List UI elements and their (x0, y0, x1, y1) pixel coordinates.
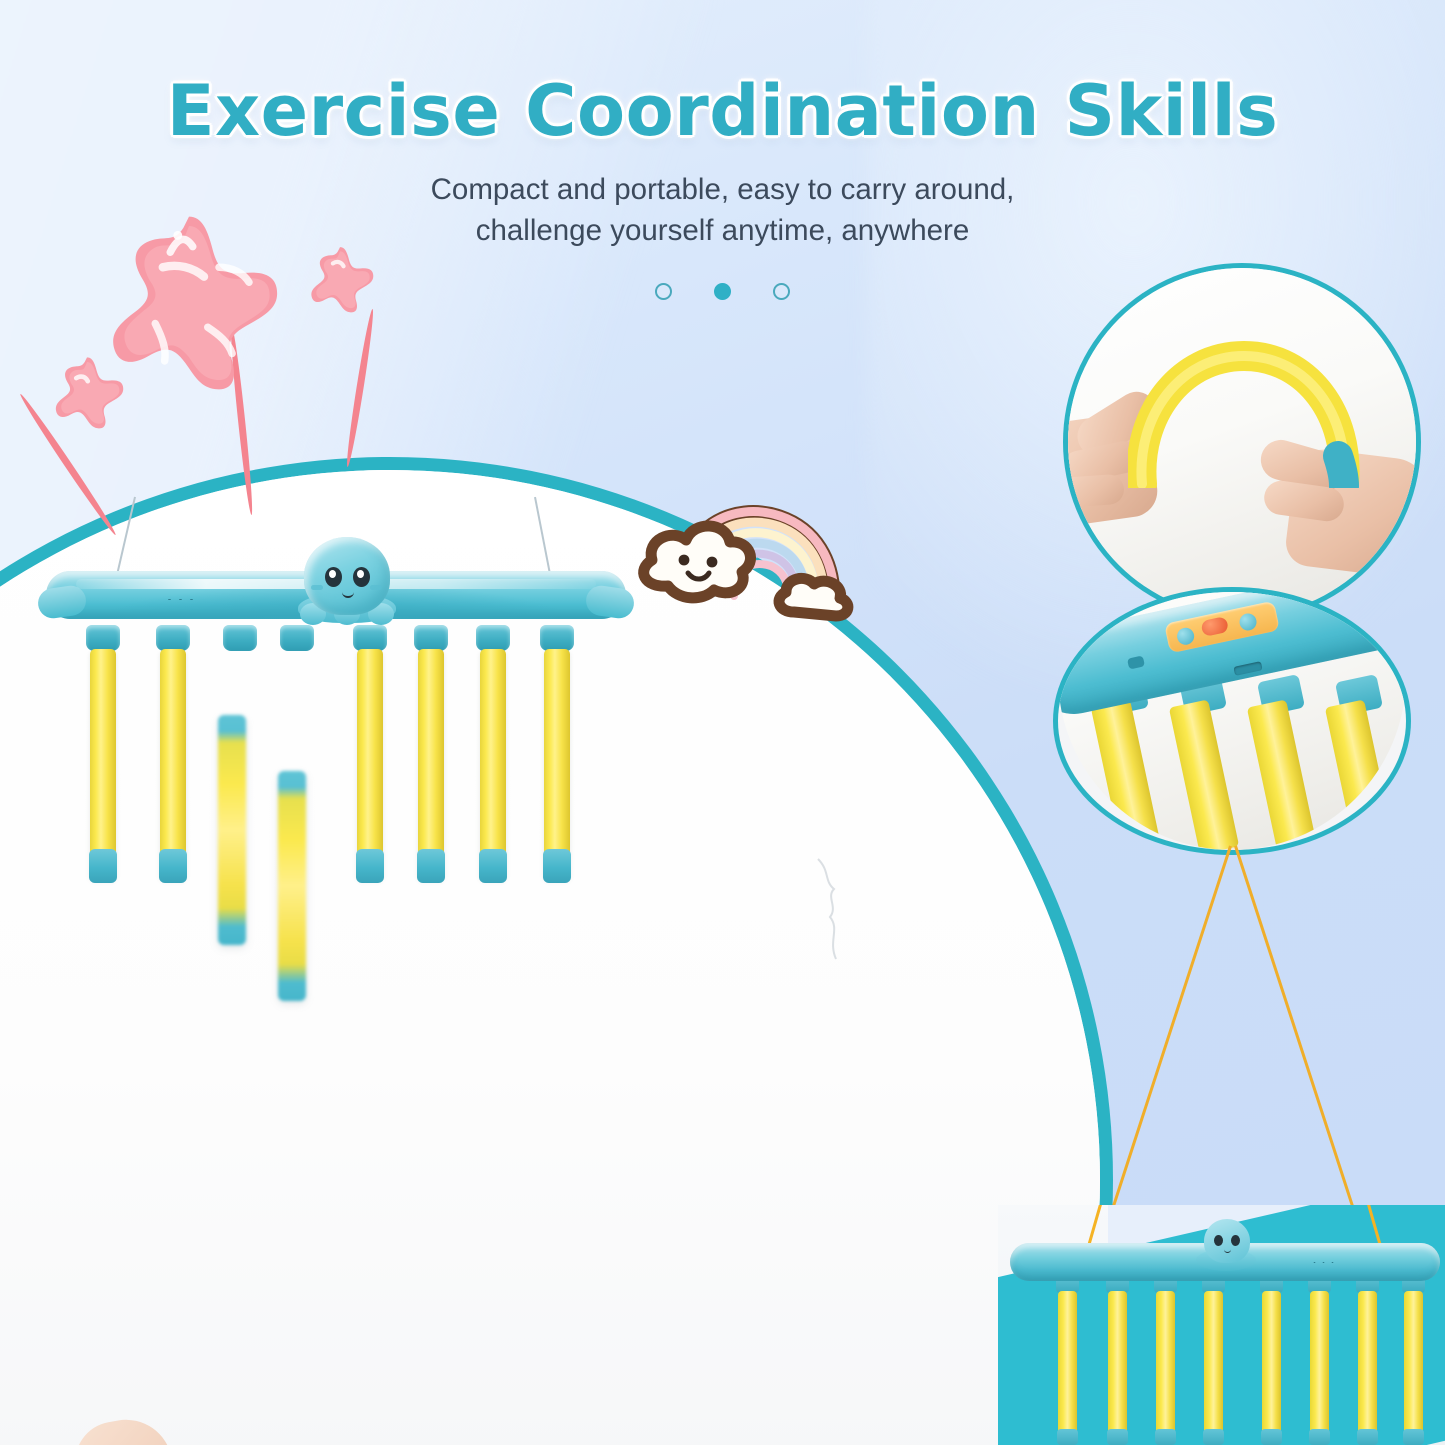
br-octopus-eye-left (1214, 1235, 1223, 1246)
socket-2 (156, 625, 190, 651)
octopus-mouth (342, 589, 354, 598)
subtitle-line-1: Compact and portable, easy to carry arou… (0, 170, 1445, 211)
infographic-canvas: Exercise Coordination Skills Compact and… (0, 0, 1445, 1445)
stick-2 (160, 649, 186, 879)
br-stick-5 (1262, 1291, 1281, 1443)
rainbow-cloud-right (779, 578, 848, 616)
product-photo-bottom-right (998, 1205, 1445, 1445)
product-main-illustration (46, 545, 626, 965)
socket-6 (414, 625, 448, 651)
page-subtitle: Compact and portable, easy to carry arou… (0, 170, 1445, 251)
carousel-dot-2[interactable] (714, 283, 731, 300)
inset-flexible-stick (1068, 268, 1416, 616)
br-stick-3 (1156, 1291, 1175, 1443)
rainbow-cloud-left-face (644, 526, 751, 598)
star-streamer-right (344, 308, 376, 467)
stick-5 (357, 649, 383, 879)
octopus-eye-right (353, 567, 370, 587)
octopus-mascot (304, 537, 390, 615)
stick-1 (90, 649, 116, 879)
subtitle-line-2: challenge yourself anytime, anywhere (0, 211, 1445, 252)
socket-3 (223, 625, 257, 651)
headline-block: Exercise Coordination Skills Compact and… (0, 74, 1445, 252)
panel-button-power[interactable] (1200, 616, 1229, 637)
socket-8 (540, 625, 574, 651)
stick-8 (544, 649, 570, 879)
stick-4-falling (278, 771, 306, 1001)
bar-speaker-holes (164, 595, 198, 600)
carousel-dot-3[interactable] (773, 283, 790, 300)
br-stick-1 (1058, 1291, 1077, 1443)
carousel-dots[interactable] (0, 283, 1445, 300)
br-stick-2 (1108, 1291, 1127, 1443)
carousel-dot-1[interactable] (655, 283, 672, 300)
flexible-stick-bent (1128, 338, 1360, 488)
panel-button-1[interactable] (1176, 626, 1196, 646)
br-stick-6 (1310, 1291, 1329, 1443)
br-stick-7 (1358, 1291, 1377, 1443)
socket-1 (86, 625, 120, 651)
cloud-eye-left (679, 555, 690, 566)
star-small-right (304, 245, 376, 313)
stick-7 (480, 649, 506, 879)
cloud-eye-right (707, 557, 718, 568)
inset-control-panel (1058, 592, 1406, 850)
panel-button-2[interactable] (1238, 612, 1258, 632)
br-octopus-head (1204, 1219, 1250, 1263)
octopus-eye-left (325, 567, 342, 587)
octopus-head (304, 537, 390, 615)
socket-7 (476, 625, 510, 651)
star-small-left (48, 355, 126, 429)
curtain-scribble (800, 855, 860, 965)
rainbow-cloud-sticker (628, 478, 866, 626)
octopus-blush-left (311, 585, 323, 590)
br-octopus-mouth (1224, 1248, 1231, 1253)
br-octopus-eye-right (1231, 1235, 1240, 1246)
br-octopus-mascot (1198, 1219, 1254, 1269)
octopus-blush-right (370, 585, 382, 590)
br-stick-4 (1204, 1291, 1223, 1443)
page-title: Exercise Coordination Skills (0, 74, 1445, 148)
socket-4 (280, 625, 314, 651)
br-speaker-holes (1310, 1259, 1336, 1263)
socket-5 (353, 625, 387, 651)
stick-6 (418, 649, 444, 879)
br-stick-8 (1404, 1291, 1423, 1443)
stick-3-falling (218, 715, 246, 945)
